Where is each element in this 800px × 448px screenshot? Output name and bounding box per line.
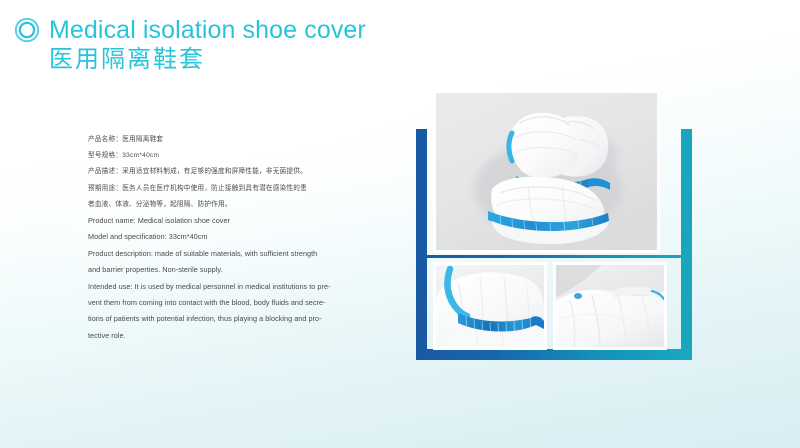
elastic-band-closeup-illustration [436,265,544,347]
page-title: Medical isolation shoe cover 医用隔离鞋套 [14,16,366,74]
description-cn-line: 预期用途：医务人员在医疗机构中使用，防止接触到具有潜在感染性的患 [88,181,388,197]
slide-canvas: Medical isolation shoe cover 医用隔离鞋套 产品名称… [0,0,800,448]
frame-bar-middle [416,255,692,258]
double-ring-icon [14,17,40,43]
description-en-line: Model and specification: 33cm*40cm [88,229,388,245]
description-en-line: vent them from coming into contact with … [88,295,388,311]
description-block: 产品名称：医用隔离鞋套 型号规格：33cm*40cm 产品描述：采用适宜材料制成… [88,132,388,344]
frame-bar-left [416,129,427,360]
frame-bar-bottom [416,349,692,360]
shoe-cover-pair-illustration [436,93,657,250]
detail-photo-fabric-edge [553,262,667,350]
description-cn-line: 者血液、体液、分泌物等，起阻隔、防护作用。 [88,197,388,213]
main-product-photo [433,90,660,253]
frame-bar-right [681,129,692,360]
description-en-line: and barrier properties. Non-sterile supp… [88,262,388,278]
fabric-edge-closeup-illustration [556,265,664,347]
description-cn-line: 型号规格：33cm*40cm [88,148,388,164]
description-cn-line: 产品名称：医用隔离鞋套 [88,132,388,148]
description-en-line: tective role. [88,328,388,344]
description-en-line: Product name: Medical isolation shoe cov… [88,213,388,229]
title-english: Medical isolation shoe cover [49,16,366,44]
description-en-line: Intended use: It is used by medical pers… [88,279,388,295]
title-row: Medical isolation shoe cover [14,16,366,44]
title-chinese: 医用隔离鞋套 [49,46,366,74]
description-en-line: tions of patients with potential infecti… [88,311,388,327]
description-en-line: Product description: made of suitable ma… [88,246,388,262]
description-cn-line: 产品描述：采用适宜材料制成，有足够的强度和屏障性能，非无菌提供。 [88,164,388,180]
detail-photo-elastic-band [433,262,547,350]
